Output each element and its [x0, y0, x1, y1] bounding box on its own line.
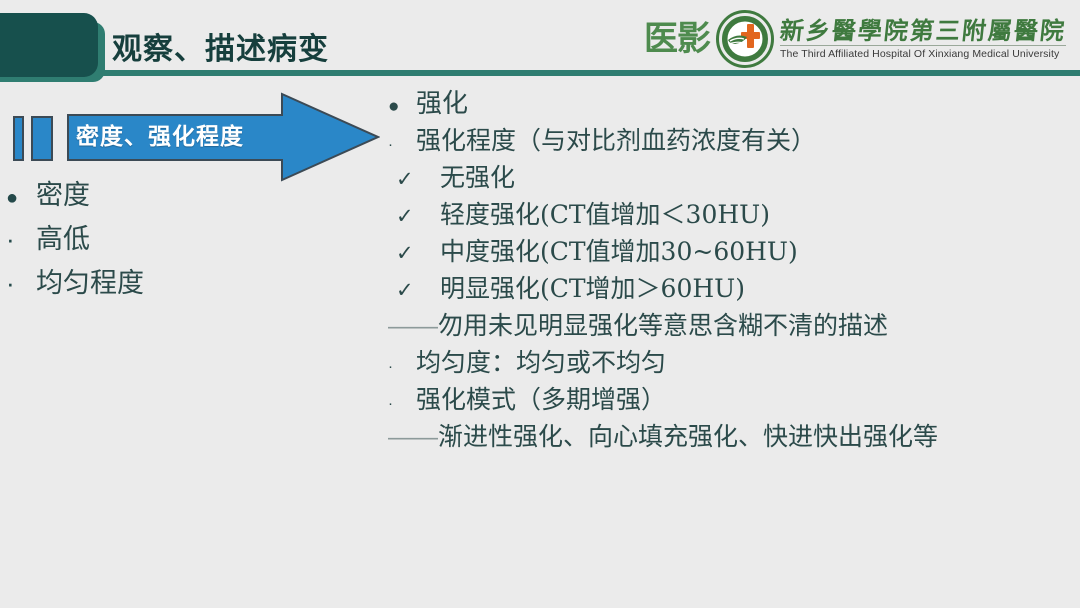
- list-item-label: 明显强化(CT增加＞60HU): [440, 274, 745, 304]
- hospital-name-block: 新乡醫學院第三附屬醫院 The Third Affiliated Hospita…: [780, 18, 1066, 60]
- tick-bar-1: [13, 116, 24, 161]
- list-item: ✓ 明显强化(CT增加＞60HU): [388, 274, 1080, 304]
- note-text: 勿用未见明显强化等意思含糊不清的描述: [438, 312, 888, 340]
- note-text: 渐进性强化、向心填充强化、快进快出强化等: [438, 423, 938, 451]
- bullet-marker: ●: [6, 188, 36, 208]
- list-item: ✓ 轻度强化(CT值增加＜30HU): [388, 200, 1080, 230]
- note-label: ——渐进性强化、向心填充强化、快进快出强化等: [388, 422, 938, 452]
- list-item-label: 中度强化(CT值增加30~60HU): [440, 237, 798, 267]
- list-item: · 强化程度（与对比剂血药浓度有关）: [388, 126, 1080, 156]
- em-dash-prefix: ——: [388, 312, 438, 340]
- left-bullet-list: ● 密度 · 高低 · 均匀程度: [6, 180, 376, 312]
- em-dash-prefix: ——: [388, 423, 438, 451]
- note-item: ——渐进性强化、向心填充强化、快进快出强化等: [388, 422, 1080, 452]
- hospital-name-cn: 新乡醫學院第三附屬醫院: [779, 18, 1068, 43]
- check-icon: ✓: [388, 167, 440, 192]
- check-icon: ✓: [388, 241, 440, 266]
- brand-mark-logo: 医影: [644, 22, 710, 56]
- list-item: · 均匀度：均匀或不均匀: [388, 348, 1080, 378]
- name-divider: [780, 45, 1066, 46]
- list-item: · 强化模式（多期增强）: [388, 385, 1080, 415]
- list-item-label: 强化: [416, 88, 468, 119]
- bullet-marker: ·: [388, 358, 416, 376]
- bullet-marker: ●: [388, 96, 416, 119]
- left-column: 密度、强化程度 ● 密度 · 高低 · 均匀程度: [0, 88, 380, 588]
- list-item-label: 强化程度（与对比剂血药浓度有关）: [416, 126, 816, 156]
- list-item: · 均匀程度: [6, 268, 376, 300]
- list-item-label: 高低: [36, 224, 90, 256]
- list-item-label: 均匀程度: [36, 268, 144, 300]
- list-item-label: 无强化: [440, 163, 515, 193]
- list-item-label: 均匀度：均匀或不均匀: [416, 348, 666, 378]
- list-item: ✓ 无强化: [388, 163, 1080, 193]
- page-title: 观察、描述病变: [112, 24, 329, 68]
- tick-bars: [13, 116, 53, 161]
- note-item: ——勿用未见明显强化等意思含糊不清的描述: [388, 311, 1080, 341]
- list-item: · 高低: [6, 224, 376, 256]
- list-item-label: 强化模式（多期增强）: [416, 385, 666, 415]
- logo-cluster: 医影 新乡醫學院第三附屬醫院 The Third Affiliated Ho: [644, 8, 1066, 70]
- note-label: ——勿用未见明显强化等意思含糊不清的描述: [388, 311, 888, 341]
- list-item-label: 轻度强化(CT值增加＜30HU): [440, 200, 770, 230]
- list-item: ✓ 中度强化(CT值增加30~60HU): [388, 237, 1080, 267]
- right-column: ● 强化 · 强化程度（与对比剂血药浓度有关） ✓ 无强化 ✓ 轻度强化(CT值…: [388, 88, 1080, 459]
- header-divider-rule: [100, 70, 1080, 76]
- slide-header: 观察、描述病变 医影 新乡醫學院第三附屬醫院 The Thi: [0, 0, 1080, 80]
- check-icon: ✓: [388, 278, 440, 303]
- list-item: ● 强化: [388, 88, 1080, 119]
- title-block: [0, 13, 98, 77]
- bullet-marker: ·: [6, 226, 36, 252]
- bullet-marker: ·: [388, 136, 416, 154]
- list-item-label: 密度: [36, 180, 90, 212]
- tick-bar-2: [31, 116, 53, 161]
- check-icon: ✓: [388, 204, 440, 229]
- hospital-cross-wing-emblem-icon: [716, 10, 774, 68]
- list-item: ● 密度: [6, 180, 376, 212]
- banner-label: 密度、强化程度: [76, 117, 244, 151]
- bullet-marker: ·: [6, 270, 36, 296]
- hospital-name-en: The Third Affiliated Hospital Of Xinxian…: [780, 48, 1066, 60]
- bullet-marker: ·: [388, 395, 416, 413]
